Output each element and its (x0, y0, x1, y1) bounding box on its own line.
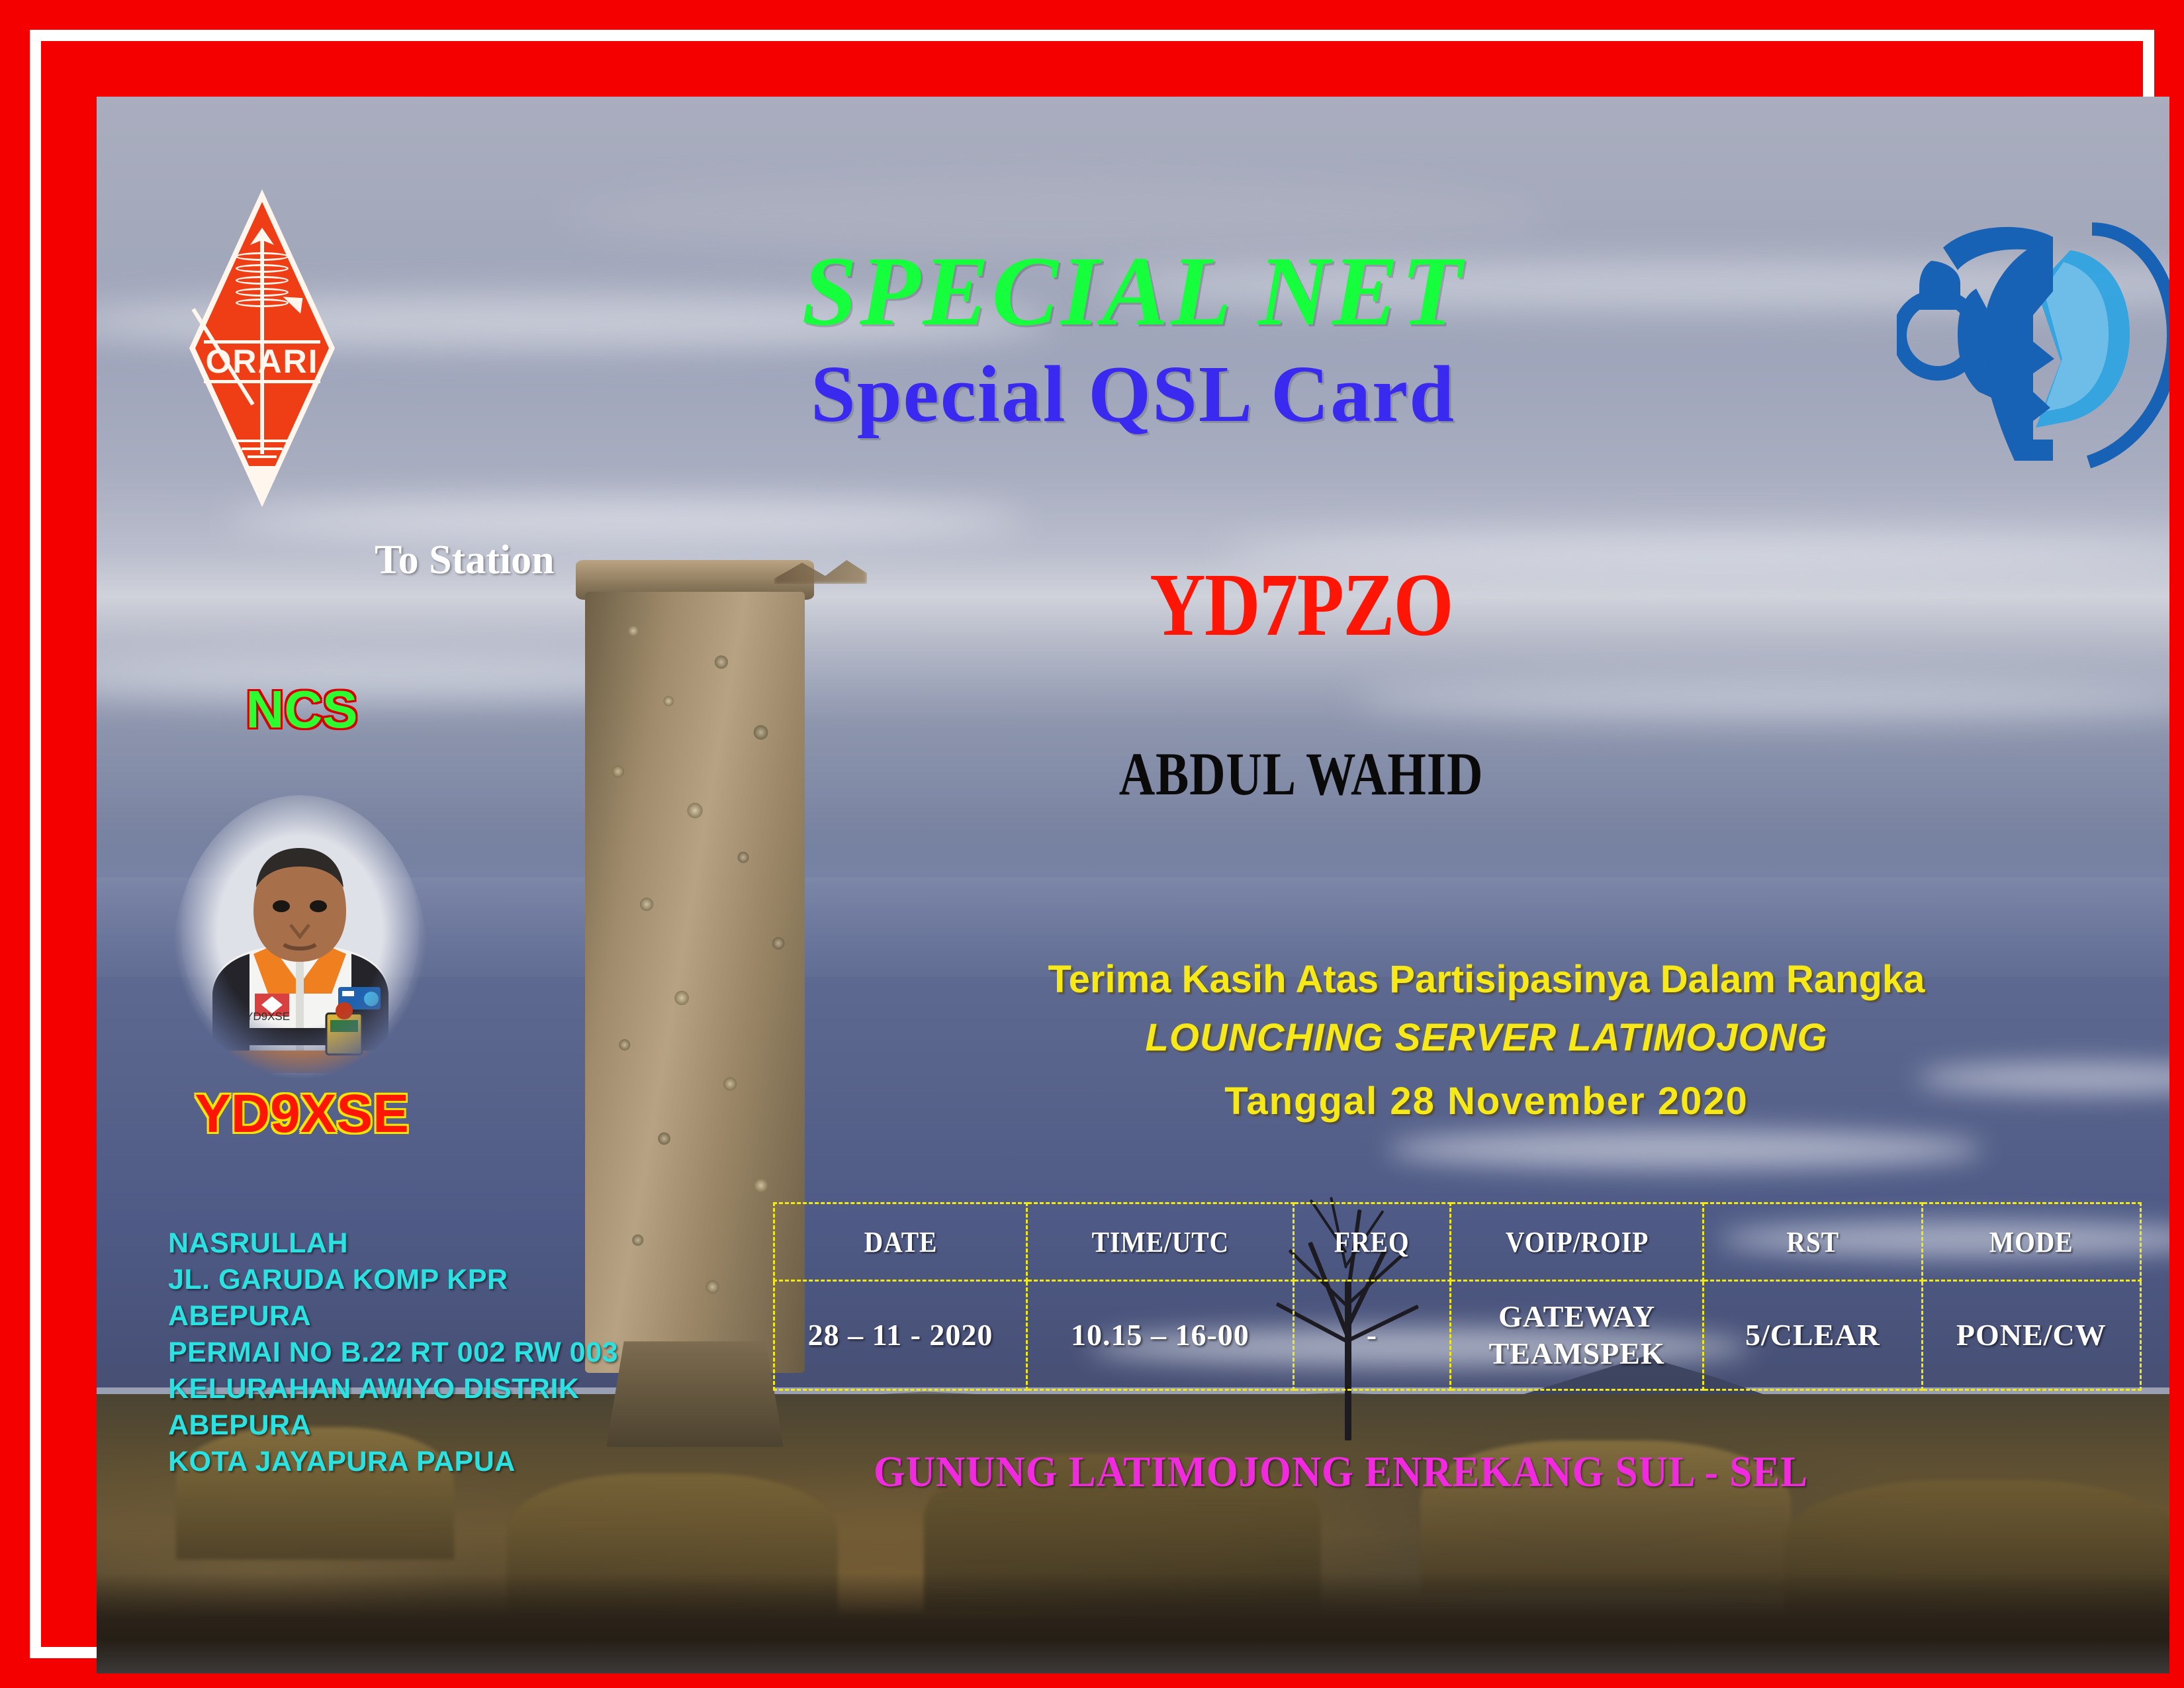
location-line: GUNUNG LATIMOJONG ENREKANG SUL - SEL (756, 1447, 1926, 1497)
cell-date: 28 – 11 - 2020 (774, 1281, 1027, 1390)
cell-voip-roip: GATEWAY TEAMSPEK (1451, 1281, 1704, 1390)
address-line: ABEPURA (168, 1298, 618, 1335)
qsl-card-inner-border: ORARI SPECIAL NET Special QSL C (41, 41, 2143, 1647)
header-freq: FREQ (1301, 1203, 1443, 1281)
voip-roip-line-2: TEAMSPEK (1452, 1335, 1702, 1372)
address-line: PERMAI NO B.22 RT 002 RW 003 (168, 1335, 618, 1371)
qso-log-table: DATE TIME/UTC FREQ VOIP/ROIP RST MODE 28… (773, 1202, 2142, 1391)
table-row: 28 – 11 - 2020 10.15 – 16-00 - GATEWAY T… (774, 1281, 2141, 1390)
to-station-label: To Station (375, 537, 555, 584)
page-subtitle-special-qsl-card: Special QSL Card (97, 348, 2169, 441)
orari-ground-symbol-icon (236, 440, 289, 462)
header-time-utc: TIME/UTC (1040, 1203, 1280, 1281)
header-date: DATE (787, 1203, 1015, 1281)
header-voip-roip: VOIP/ROIP (1463, 1203, 1691, 1281)
header-mode: MODE (1933, 1203, 2130, 1281)
footer-web-address: Address : amatir.latimojong.com (1341, 1664, 1960, 1673)
event-date: Tanggal 28 November 2020 (818, 1079, 2155, 1123)
address-line: KOTA JAYAPURA PAPUA (168, 1444, 618, 1480)
page-title-special-net: SPECIAL NET (97, 234, 2169, 348)
recipient-operator-name: ABDUL WAHID (959, 739, 1643, 809)
address-line: NASRULLAH (168, 1225, 618, 1262)
sender-address-block: NASRULLAH JL. GARUDA KOMP KPR ABEPURA PE… (168, 1225, 618, 1480)
recipient-callsign: YD7PZO (942, 553, 1660, 657)
svg-text:YD9XSE: YD9XSE (246, 1010, 290, 1023)
footer-slogan: "AMATIR RADIO ADALAH PROGRESIVE" (176, 1665, 1056, 1673)
ncs-label: NCS (163, 679, 441, 740)
address-line: JL. GARUDA KOMP KPR (168, 1262, 618, 1298)
cell-freq: - (1293, 1281, 1450, 1390)
qsl-card-outer-border: ORARI SPECIAL NET Special QSL C (0, 0, 2184, 1688)
voip-roip-line-1: GATEWAY (1452, 1298, 1702, 1335)
address-line: KELURAHAN AWIYO DISTRIK (168, 1371, 618, 1407)
background-photograph: ORARI SPECIAL NET Special QSL C (97, 97, 2169, 1673)
cell-rst: 5/CLEAR (1704, 1281, 1922, 1390)
event-title: LOUNCHING SERVER LATIMOJONG (818, 1015, 2155, 1060)
address-line: ABEPURA (168, 1407, 618, 1444)
cloud-band (1354, 679, 2169, 720)
cell-mode: PONE/CW (1922, 1281, 2140, 1390)
ncs-callsign: YD9XSE (136, 1083, 467, 1145)
table-header-row: DATE TIME/UTC FREQ VOIP/ROIP RST MODE (774, 1203, 2141, 1281)
cloud-band (229, 500, 1023, 540)
thanks-message: Terima Kasih Atas Partisipasinya Dalam R… (818, 957, 2155, 1002)
cell-time-utc: 10.15 – 16-00 (1027, 1281, 1294, 1390)
monument-base (606, 1341, 784, 1447)
header-rst: RST (1714, 1203, 1911, 1281)
